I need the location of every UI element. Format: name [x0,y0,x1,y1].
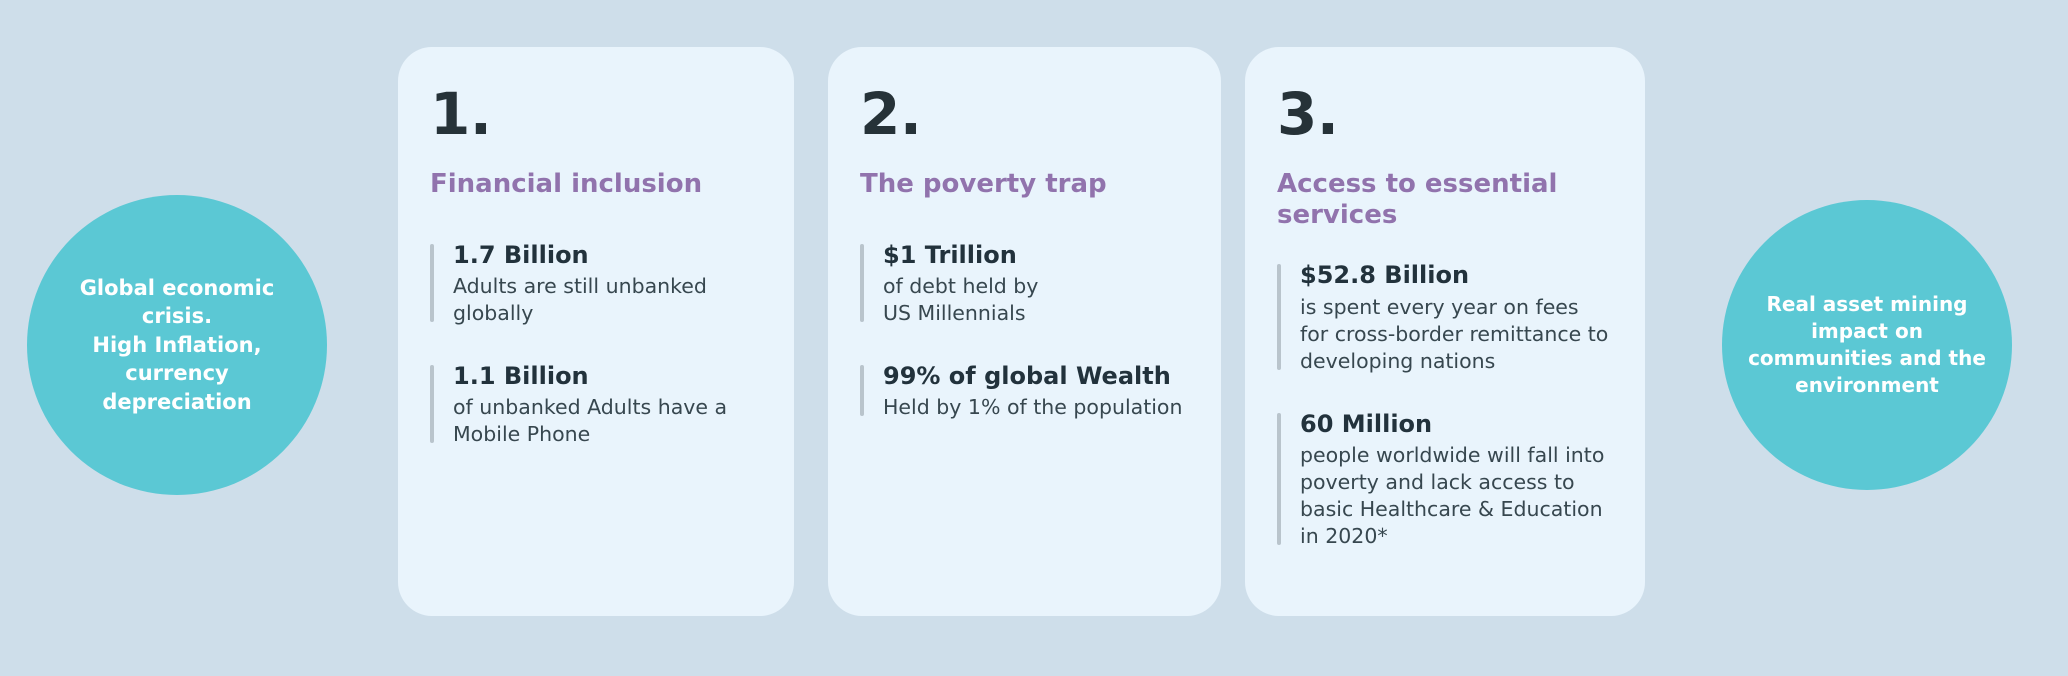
right-context-circle: Real asset mining impact on communities … [1722,200,2012,490]
left-context-circle: Global economic crisis. High Inflation, … [27,195,327,495]
stat-item: $52.8 Billion is spent every year on fee… [1277,260,1611,374]
stat-value: 1.1 Billion [453,361,760,392]
card-2-stat-list: $1 Trillion of debt held by US Millennia… [860,240,1187,422]
stat-accent-bar [1277,413,1281,545]
stat-value: $52.8 Billion [1300,260,1611,291]
stat-accent-bar [860,365,864,416]
card-access-essential-services[interactable]: 3. Access to essential services $52.8 Bi… [1245,47,1645,616]
card-1-stat-list: 1.7 Billion Adults are still unbanked gl… [430,240,760,449]
stat-accent-bar [430,244,434,322]
left-context-circle-text: Global economic crisis. High Inflation, … [62,274,292,416]
stat-accent-bar [860,244,864,322]
stat-accent-bar [1277,264,1281,369]
stat-description: of unbanked Adults have a Mobile Phone [453,394,760,448]
stat-item: 99% of global Wealth Held by 1% of the p… [860,361,1187,421]
stat-description: Adults are still unbanked globally [453,273,760,327]
stat-item: 60 Million people worldwide will fall in… [1277,409,1611,550]
stat-value: 99% of global Wealth [883,361,1187,392]
stat-description: is spent every year on fees for cross-bo… [1300,294,1611,375]
stat-item: 1.1 Billion of unbanked Adults have a Mo… [430,361,760,448]
stat-item: $1 Trillion of debt held by US Millennia… [860,240,1187,327]
stat-description: people worldwide will fall into poverty … [1300,442,1611,550]
stat-value: 60 Million [1300,409,1611,440]
card-poverty-trap[interactable]: 2. The poverty trap $1 Trillion of debt … [828,47,1221,616]
stat-description: Held by 1% of the population [883,394,1187,421]
stat-accent-bar [430,365,434,443]
right-context-circle-text: Real asset mining impact on communities … [1742,291,1992,399]
card-2-title: The poverty trap [860,169,1187,200]
card-1-title: Financial inclusion [430,169,760,200]
card-2-number: 2. [860,85,1187,143]
card-3-title: Access to essential services [1277,169,1611,230]
stat-item: 1.7 Billion Adults are still unbanked gl… [430,240,760,327]
stat-value: $1 Trillion [883,240,1187,271]
card-3-number: 3. [1277,85,1611,143]
infographic-canvas: Global economic crisis. High Inflation, … [0,0,2068,676]
stat-description: of debt held by US Millennials [883,273,1187,327]
card-3-stat-list: $52.8 Billion is spent every year on fee… [1277,260,1611,550]
card-1-number: 1. [430,85,760,143]
card-financial-inclusion[interactable]: 1. Financial inclusion 1.7 Billion Adult… [398,47,794,616]
stat-value: 1.7 Billion [453,240,760,271]
